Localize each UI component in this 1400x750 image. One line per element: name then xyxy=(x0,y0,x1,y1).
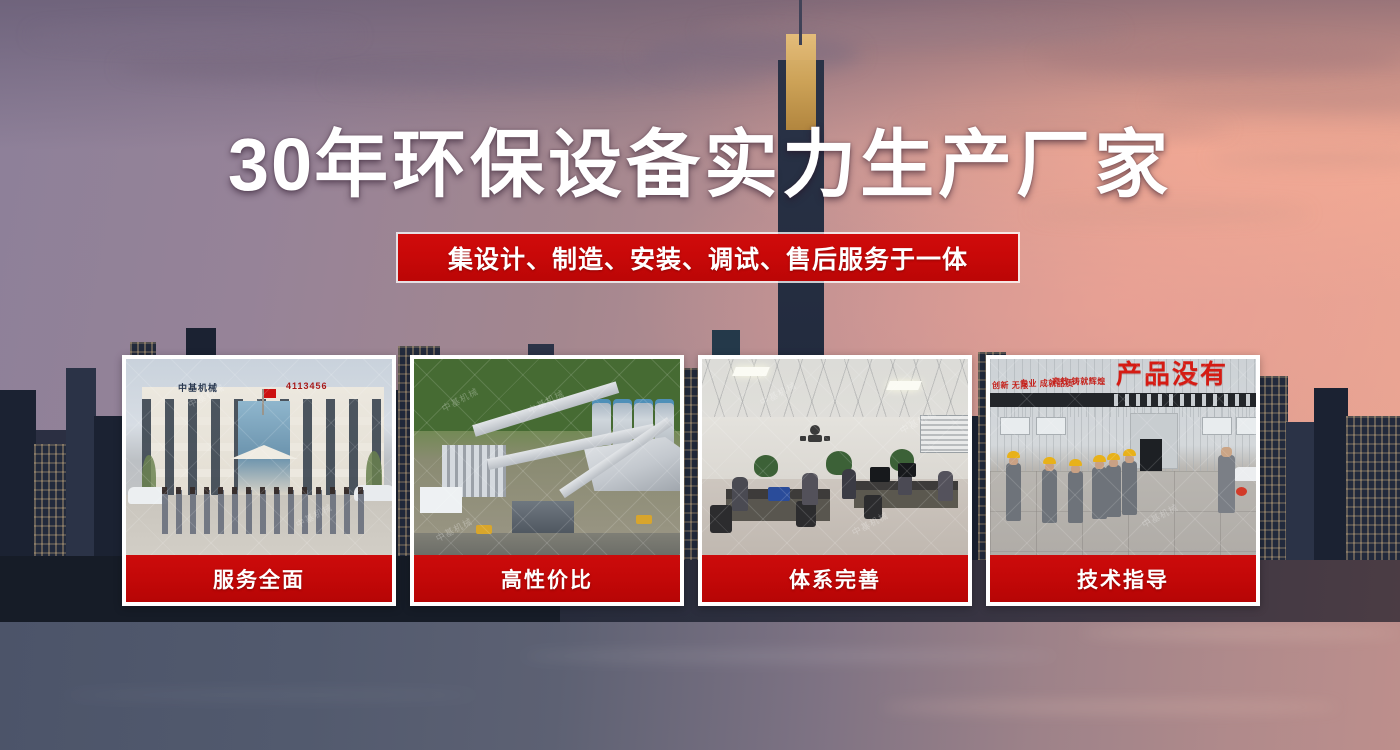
factory-window-band-mullions xyxy=(1114,394,1254,406)
factory-window xyxy=(1236,417,1256,435)
factory-wall-slogan-small: 高效 铸就辉煌 xyxy=(1052,377,1106,386)
card-caption-text: 体系完善 xyxy=(789,564,881,594)
excavator xyxy=(476,525,492,534)
red-helmet-held xyxy=(1236,487,1247,496)
hard-hat-icon xyxy=(1043,457,1056,464)
parked-car xyxy=(1234,467,1256,481)
hard-hat-icon xyxy=(1007,451,1020,458)
water-reflection xyxy=(880,700,1340,714)
supervisor xyxy=(1218,455,1235,513)
company-headquarters-photo: 中基机械 4113456 中基机械 中基机械 xyxy=(126,359,392,555)
headline-years-number: 30 xyxy=(228,123,314,206)
card-caption: 高性价比 xyxy=(414,555,680,602)
card-caption-text: 服务全面 xyxy=(213,564,305,594)
worker-in-uniform xyxy=(1106,465,1121,517)
wall-decal-icon xyxy=(798,419,832,445)
office-worker xyxy=(732,477,748,511)
computer-monitor xyxy=(898,463,916,477)
ceiling-light xyxy=(732,367,770,376)
laptop xyxy=(768,487,790,501)
feature-card-guidance[interactable]: 产品没有 创新 无限 专业 成就品质 高效 铸就辉煌 xyxy=(986,355,1260,606)
card-caption-text: 技术指导 xyxy=(1077,564,1169,594)
workshop-shed xyxy=(512,501,574,533)
office-block xyxy=(420,487,462,513)
factory-wall-slogan-large: 产品没有 xyxy=(1116,361,1228,387)
worker-in-uniform xyxy=(1068,471,1083,523)
factory-window xyxy=(1036,417,1066,435)
office-chair xyxy=(710,505,732,533)
headline-rest-text: 年环保设备实力生产厂家 xyxy=(314,123,1172,206)
national-flag xyxy=(264,389,276,398)
office-worker xyxy=(842,469,856,499)
plant-road xyxy=(414,533,680,555)
tower-spire xyxy=(799,0,802,45)
building-phone-number: 4113456 xyxy=(286,381,328,391)
subtitle-text: 集设计、制造、安装、调试、售后服务于一体 xyxy=(448,240,968,276)
office-team-photo: 中基机械 中基机械 中基机械 xyxy=(702,359,968,555)
office-worker xyxy=(938,471,953,501)
aerial-production-plant-photo: 中基机械 中基机械 中基机械 xyxy=(414,359,680,555)
worker-head xyxy=(1071,465,1080,473)
page-title: 30年环保设备实力生产厂家 xyxy=(0,128,1400,202)
excavator xyxy=(636,515,652,524)
worker-head xyxy=(1095,461,1104,469)
worker-head xyxy=(1125,455,1134,463)
factory-window xyxy=(1000,417,1030,435)
worker-head xyxy=(1009,457,1018,465)
office-worker xyxy=(802,473,818,505)
hard-hat-icon xyxy=(1093,455,1106,462)
feature-card-service[interactable]: 中基机械 4113456 中基机械 中基机械 服务全面 xyxy=(122,355,396,606)
subtitle-ribbon: 集设计、制造、安装、调试、售后服务于一体 xyxy=(398,234,1018,281)
water-reflection xyxy=(60,690,480,700)
staff-row-bodies xyxy=(162,490,366,534)
worker-in-uniform xyxy=(1006,463,1021,521)
office-chair xyxy=(864,495,882,519)
hard-hat-icon xyxy=(1069,459,1082,466)
potted-plant xyxy=(754,455,778,477)
worker-in-uniform xyxy=(1042,469,1057,523)
feature-card-value[interactable]: 中基机械 中基机械 中基机械 高性价比 xyxy=(410,355,684,606)
factory-window xyxy=(1202,417,1232,435)
supervisor-head xyxy=(1221,447,1232,457)
ceiling-light xyxy=(886,381,922,390)
card-caption: 体系完善 xyxy=(702,555,968,602)
card-caption: 服务全面 xyxy=(126,555,392,602)
hard-hat-icon xyxy=(1123,449,1136,456)
feature-card-row: 中基机械 4113456 中基机械 中基机械 服务全面 xyxy=(122,355,1278,606)
factory-doorway xyxy=(1140,439,1162,471)
factory-workers-training-photo: 产品没有 创新 无限 专业 成就品质 高效 铸就辉煌 xyxy=(990,359,1256,555)
worker-in-uniform xyxy=(1122,461,1137,515)
worker-head xyxy=(1109,459,1118,467)
tower-lit-crown xyxy=(786,34,816,130)
card-caption-text: 高性价比 xyxy=(501,564,593,594)
water-reflection xyxy=(1080,628,1400,638)
staff-row-heads xyxy=(162,487,366,494)
water-reflection xyxy=(520,650,1060,662)
hard-hat-icon xyxy=(1107,453,1120,460)
window-blinds xyxy=(920,415,968,453)
computer-monitor xyxy=(870,467,890,482)
card-caption: 技术指导 xyxy=(990,555,1256,602)
worker-head xyxy=(1045,463,1054,471)
banner-stage: 30年环保设备实力生产厂家 集设计、制造、安装、调试、售后服务于一体 中基机械 … xyxy=(0,0,1400,750)
building-company-sign: 中基机械 xyxy=(178,381,218,394)
feature-card-system[interactable]: 中基机械 中基机械 中基机械 体系完善 xyxy=(698,355,972,606)
worker-in-uniform xyxy=(1092,467,1107,519)
